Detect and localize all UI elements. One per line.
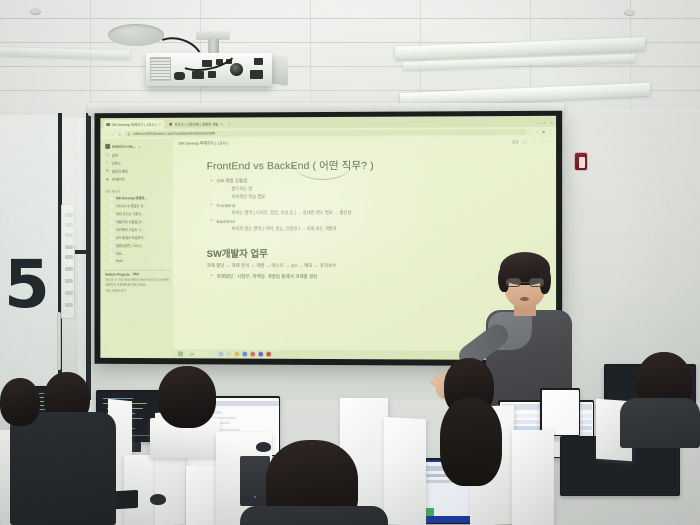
tab-favicon [169, 123, 172, 126]
bullet-item: FrontEnd 보이는 영역 ( 디자인, 잡업, 속설 등 ) → 섬세한 … [211, 203, 538, 217]
projector-lens [230, 63, 243, 76]
weather-icon[interactable] [219, 351, 224, 356]
workspace-name: HUSOO's No... [112, 144, 136, 148]
sidebar-item-search[interactable]: 🔍 검색 [104, 151, 170, 159]
student-head [0, 378, 40, 426]
teams-icon[interactable] [258, 352, 263, 357]
promo-header: Notion Projects New [105, 272, 169, 276]
sidebar-page-item[interactable]: › 📄 아키텍처 구상도 그... [104, 226, 170, 234]
sidebar-page-label: 질문&답변 ( 7교시 ) [116, 243, 143, 248]
sidebar-page-item[interactable]: › 📄 API 명세서 작성하기... [104, 234, 170, 242]
minimize-icon[interactable]: — [536, 121, 539, 125]
chevron-right-icon[interactable]: › [105, 228, 108, 232]
sidebar-page-label: SW Develop 파헤치... [116, 196, 147, 201]
tab-title: SW Develop 파헤치기 ( 1교시 ) [112, 122, 157, 127]
tab-title: 카카오 ( 다음카페 ) 정현욱 개발 [174, 122, 218, 127]
taskbar-search[interactable]: 검색 [187, 351, 209, 357]
chevron-right-icon[interactable]: › [105, 196, 108, 200]
classroom-photo: 5 SW Develop 파헤치기 ( 1교시 ) ✕ 카 [0, 0, 700, 525]
slide-bullet-list: SW 개발 공통점 몰두하는 일 지속적인 학습 필요 FrontEnd [211, 177, 538, 232]
sidebar-item-label: 검색 [112, 152, 118, 157]
promo-title: Notion Projects [105, 272, 130, 276]
promo-body: 하나의 AI 기반 워크스페이스에서 아이디어 구상부터 실행까지 프로젝트를 … [105, 278, 169, 287]
history-icon[interactable]: 🕐 [531, 140, 536, 144]
bullet-item: BackEnd 보이지 않는 영역 ( 서버, 성능, 안정성 ) → 속을 보… [211, 219, 538, 232]
door-handle[interactable] [57, 312, 61, 370]
page-icon: 📄 [110, 259, 114, 263]
chevron-right-icon[interactable]: › [105, 236, 108, 240]
chrome-icon[interactable] [234, 352, 239, 357]
extensions-icon[interactable]: ⌄ [530, 130, 533, 134]
page-icon: 📄 [110, 228, 114, 232]
sidebar-item-inbox[interactable]: ⏱ 인박스 [104, 159, 170, 167]
page-icon: 📄 [110, 204, 114, 208]
sidebar-page-label: 개발자의 소통법 (A... [116, 219, 145, 224]
more-options-icon[interactable]: ⋯ [547, 140, 551, 144]
wall-logo: 5 [4, 255, 48, 315]
bullet-item: SW 개발 공통점 몰두하는 일 지속적인 학습 필요 [211, 177, 538, 200]
sidebar-page-label: tools [116, 259, 123, 263]
monitor [540, 388, 580, 436]
sub-bullet-list: 몰두하는 일 지속적인 학습 필요 [226, 186, 538, 201]
browser-tab[interactable]: SW Develop 파헤치기 ( 1교시 ) ✕ [103, 120, 164, 129]
bullet-text: FrontEnd [217, 203, 236, 208]
menu-icon[interactable]: ⋮ [548, 130, 552, 134]
chevron-right-icon[interactable]: › [105, 204, 108, 208]
sidebar-page-item[interactable]: › 📄 SW Develop 파헤치... [104, 194, 170, 202]
topbar-actions: 공유 💬 🕐 ☆ ⋯ [512, 140, 551, 145]
bullet-text: SW 개발 공통점 [217, 178, 248, 183]
notion-sidebar: HUSOO's No... ⌄ 🔍 검색 ⏱ 인박스 ⚙ [100, 139, 173, 359]
sidebar-item-new-page[interactable]: ✚ 새 페이지 [104, 175, 170, 183]
presenter-mouth [520, 297, 529, 301]
student-head [158, 366, 216, 428]
glass-pane [62, 118, 84, 246]
promo-link[interactable]: 지금 사용해 보기 [105, 288, 169, 292]
page-icon: 📄 [110, 196, 114, 200]
mouse[interactable] [256, 442, 271, 452]
maximize-icon[interactable]: □ [544, 121, 546, 125]
reload-icon[interactable]: ⟳ [118, 131, 121, 136]
close-window-icon[interactable]: ✕ [550, 121, 553, 125]
student-body [620, 398, 700, 448]
new-tab-button[interactable]: + [228, 121, 230, 128]
edge-icon[interactable] [242, 352, 247, 357]
chevron-down-icon[interactable]: ⌄ [138, 144, 141, 148]
chevron-right-icon[interactable]: › [105, 212, 108, 216]
lock-icon: 🔒 [127, 132, 131, 136]
sidebar-page-item[interactable]: › 📄 최저 코드는 기준이... [104, 210, 170, 218]
sidebar-page-label: 미로... [116, 251, 125, 256]
sidebar-item-label: 설정과 멤버 [112, 169, 128, 174]
mail-icon[interactable] [226, 352, 231, 357]
glasses-icon [506, 278, 544, 288]
sidebar-page-item[interactable]: › 📄 개발자의 소통법 (A... [104, 218, 170, 226]
close-icon[interactable]: ✕ [158, 122, 161, 126]
sub-bullet-list: 보이지 않는 영역 ( 서버, 성능, 안정성 ) → 속을 보는 개발자 [226, 226, 538, 232]
address-bar[interactable]: 🔒 notion.so/SW-Develop-1-ad27cc5a81e9d44… [124, 129, 526, 137]
start-icon[interactable] [178, 351, 183, 356]
fire-alarm-icon [574, 152, 588, 171]
browser-tab[interactable]: 카카오 ( 다음카페 ) 정현욱 개발 ✕ [166, 120, 226, 129]
sidebar-item-label: 새 페이지 [112, 177, 125, 182]
sidebar-page-label: TOOLS & 확장도 프... [116, 204, 146, 209]
chevron-right-icon[interactable]: › [105, 220, 108, 224]
student-body [10, 412, 116, 525]
back-icon[interactable]: ← [104, 132, 108, 137]
sub-bullet-item: 지속적인 학습 필요 [226, 194, 538, 201]
ceiling-light [0, 47, 130, 59]
student-body [240, 506, 388, 525]
explorer-icon[interactable] [250, 352, 255, 357]
notion-projects-promo[interactable]: Notion Projects New 하나의 AI 기반 워크스페이스에서 아… [104, 269, 170, 294]
workspace-switcher[interactable]: HUSOO's No... ⌄ [104, 142, 170, 151]
close-icon[interactable]: ✕ [220, 122, 223, 126]
sidebar-page-label: 최저 코드는 기준이... [116, 211, 144, 216]
desk-divider [384, 417, 426, 525]
slide-heading-1: FrontEnd vs BackEnd ( 어떤 직무? ) [207, 157, 538, 173]
desk-divider [512, 430, 554, 525]
comment-icon[interactable]: 💬 [523, 140, 528, 144]
chevron-right-icon[interactable]: › [105, 259, 108, 263]
bookmark-star-icon[interactable]: ☆ [536, 130, 539, 134]
sidebar-page-label: API 명세서 작성하기... [116, 235, 147, 240]
clock-icon: ⏱ [105, 161, 109, 165]
search-icon: 🔍 [105, 153, 109, 157]
page-icon: 📄 [110, 212, 114, 216]
smoke-detector-icon [30, 8, 41, 15]
sidebar-page-item[interactable]: › 📄 TOOLS & 확장도 프... [104, 202, 170, 210]
taskbar-tray [219, 351, 272, 356]
mouse[interactable] [150, 494, 166, 505]
toolbar-actions: ⌄ ☆ ◉ ⋮ [530, 130, 552, 134]
gear-icon: ⚙ [105, 169, 109, 173]
student-head [440, 398, 502, 486]
page-icon: 📄 [110, 252, 114, 256]
page-icon: 📄 [110, 220, 114, 224]
sidebar-section-title: 개인 페이지 [104, 188, 170, 193]
power-led [254, 496, 256, 498]
taskbar-search-label: 검색 [189, 352, 194, 356]
sidebar-page-item[interactable]: › 📄 tools [104, 258, 170, 265]
page-icon: 📄 [110, 236, 114, 240]
sidebar-item-settings[interactable]: ⚙ 설정과 멤버 [104, 167, 170, 175]
sidebar-page-item[interactable]: › 📄 미로... [104, 250, 170, 258]
profile-icon[interactable]: ◉ [542, 130, 545, 134]
url-text: notion.so/SW-Develop-1-ad27cc5a81e9d44d3… [133, 132, 215, 136]
sidebar-page-label: 아키텍처 구상도 그... [116, 227, 144, 232]
bullet-text: BackEnd [217, 219, 235, 224]
page-icon: 📄 [110, 244, 114, 248]
forward-icon[interactable]: → [111, 131, 115, 136]
smoke-detector-icon [624, 9, 635, 16]
glass-frame [86, 113, 91, 410]
new-badge: New [132, 273, 140, 276]
sidebar-page-item[interactable]: › 📄 질문&답변 ( 7교시 ) [104, 242, 170, 250]
workspace-avatar [105, 144, 110, 149]
sub-bullet-item: 몰두하는 일 [226, 186, 538, 193]
share-button[interactable]: 공유 [512, 140, 519, 145]
sidebar-item-label: 인박스 [112, 160, 121, 165]
screen-grid-app [542, 390, 579, 435]
page-title-breadcrumb[interactable]: SW Develop 파헤치기 ( 1교시 ) [178, 141, 228, 146]
chevron-right-icon[interactable]: › [105, 252, 108, 256]
app-icon[interactable] [266, 352, 271, 357]
sub-bullet-item: 보이는 영역 ( 디자인, 잡업, 속설 등 ) → 섬세한 센스 필요 → 생… [226, 210, 538, 216]
tab-favicon [106, 123, 109, 126]
chevron-right-icon[interactable]: › [105, 244, 108, 248]
plus-icon: ✚ [105, 177, 109, 181]
sub-bullet-item: 보이지 않는 영역 ( 서버, 성능, 안정성 ) → 속을 보는 개발자 [226, 226, 538, 232]
favorite-star-icon[interactable]: ☆ [540, 140, 543, 144]
sub-bullet-list: 보이는 영역 ( 디자인, 잡업, 속설 등 ) → 섬세한 센스 필요 → 생… [226, 210, 538, 216]
